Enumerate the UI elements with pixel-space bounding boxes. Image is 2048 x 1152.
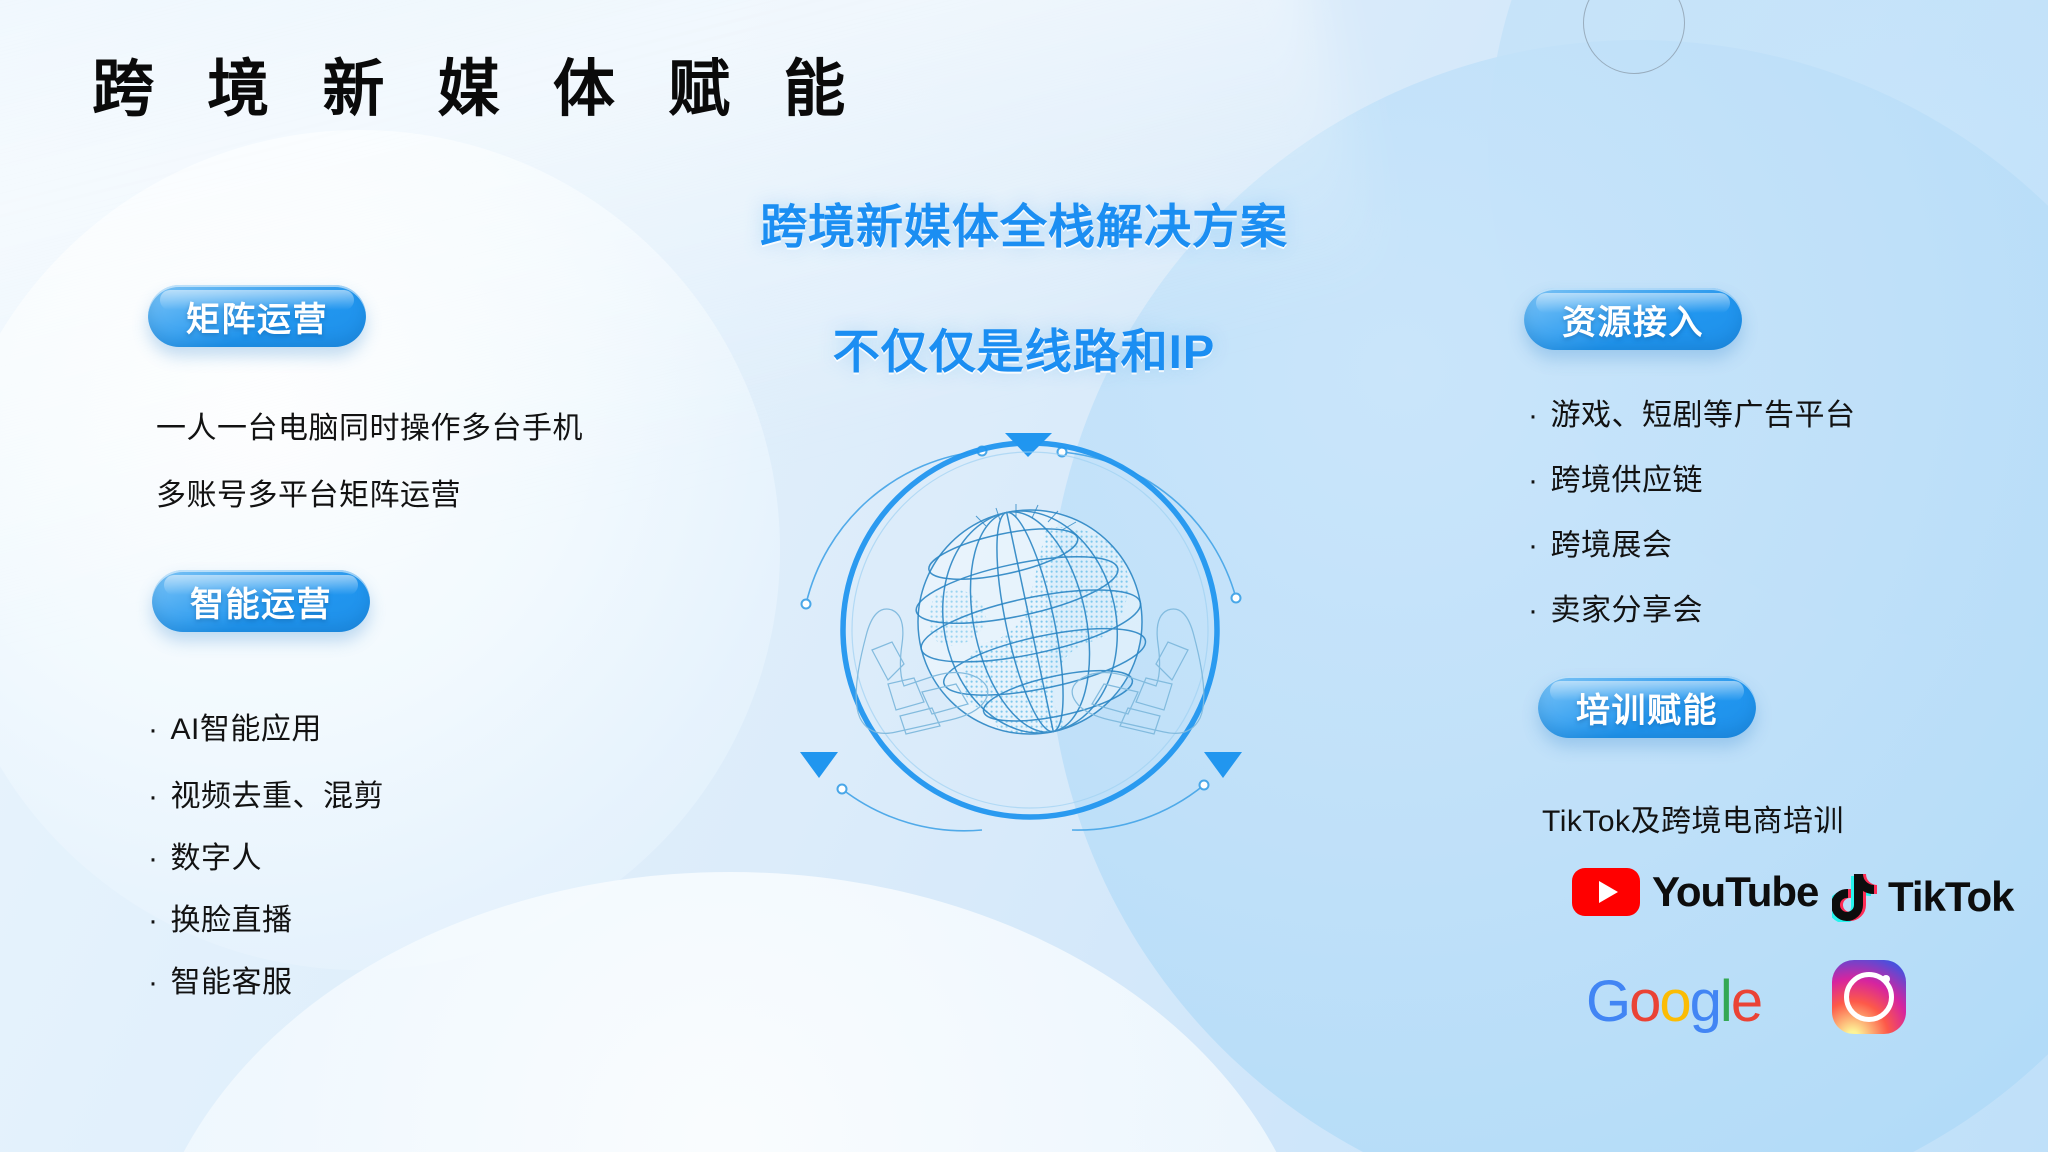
- resource-item-1: ·跨境供应链: [1528, 455, 1703, 499]
- google-letter-0: G: [1586, 968, 1629, 1035]
- smart-item-4: ·智能客服: [148, 957, 293, 1001]
- resource-item-1-label: 跨境供应链: [1551, 464, 1704, 497]
- background-circle-left: [0, 130, 780, 970]
- google-letter-4: l: [1720, 968, 1731, 1035]
- smart-item-2: ·数字人: [148, 833, 262, 877]
- resource-item-2: ·跨境展会: [1528, 520, 1673, 564]
- badge-matrix-operations[interactable]: 矩阵运营: [148, 285, 366, 347]
- smart-item-2-label: 数字人: [171, 842, 263, 875]
- center-headline-primary: 跨境新媒体全栈解决方案: [760, 188, 1288, 257]
- resource-item-3: ·卖家分享会: [1528, 585, 1703, 629]
- smart-item-4-label: 智能客服: [171, 966, 293, 999]
- bullet-dot: ·: [1528, 399, 1539, 432]
- bullet-dot: ·: [148, 842, 159, 875]
- bullet-dot: ·: [148, 904, 159, 937]
- google-wordmark: Google: [1586, 968, 1761, 1035]
- badge-resource-access[interactable]: 资源接入: [1524, 288, 1742, 350]
- smart-item-3-label: 换脸直播: [171, 904, 293, 937]
- badge-training-empowerment[interactable]: 培训赋能: [1538, 676, 1756, 738]
- bullet-dot: ·: [1528, 464, 1539, 497]
- smart-item-1-label: 视频去重、混剪: [171, 780, 385, 813]
- decorative-circle-outline-icon: [1583, 0, 1685, 74]
- bullet-dot: ·: [148, 780, 159, 813]
- youtube-play-icon: [1572, 868, 1640, 916]
- background-circle-bottom: [140, 872, 1320, 1152]
- matrix-item-0: 一人一台电脑同时操作多台手机: [156, 403, 583, 447]
- google-letter-3: g: [1690, 968, 1720, 1035]
- slide-canvas: 跨 境 新 媒 体 赋 能 跨境新媒体全栈解决方案 不仅仅是线路和IP: [0, 0, 2048, 1152]
- center-headline-secondary: 不仅仅是线路和IP: [833, 313, 1215, 382]
- smart-item-0: ·AI智能应用: [148, 704, 322, 748]
- smart-item-3: ·换脸直播: [148, 895, 293, 939]
- logo-google[interactable]: Google: [1586, 968, 1761, 1035]
- resource-item-2-label: 跨境展会: [1551, 529, 1673, 562]
- smart-item-1: ·视频去重、混剪: [148, 771, 384, 815]
- google-letter-2: o: [1659, 968, 1689, 1035]
- globe-icon: [800, 400, 1260, 860]
- logo-tiktok[interactable]: TikTok: [1832, 872, 2013, 922]
- bullet-dot: ·: [148, 713, 159, 746]
- globe-in-hands-graphic: [800, 400, 1260, 860]
- bullet-dot: ·: [148, 966, 159, 999]
- bullet-dot: ·: [1528, 529, 1539, 562]
- bullet-dot: ·: [1528, 594, 1539, 627]
- smart-item-0-label: AI智能应用: [171, 713, 322, 746]
- youtube-wordmark: YouTube: [1652, 868, 1818, 916]
- tiktok-note-icon: [1832, 872, 1878, 922]
- badge-smart-operations[interactable]: 智能运营: [152, 570, 370, 632]
- training-item-0: TikTok及跨境电商培训: [1542, 796, 1844, 840]
- tiktok-wordmark: TikTok: [1888, 873, 2013, 921]
- resource-item-3-label: 卖家分享会: [1551, 594, 1704, 627]
- matrix-item-1: 多账号多平台矩阵运营: [156, 470, 461, 514]
- resource-item-0-label: 游戏、短剧等广告平台: [1551, 399, 1856, 432]
- page-title: 跨 境 新 媒 体 赋 能: [92, 38, 863, 128]
- resource-item-0: ·游戏、短剧等广告平台: [1528, 390, 1856, 434]
- logo-youtube[interactable]: YouTube: [1572, 868, 1818, 916]
- instagram-camera-icon: [1832, 960, 1906, 1034]
- google-letter-5: e: [1731, 968, 1761, 1035]
- logo-instagram[interactable]: [1832, 960, 1906, 1034]
- google-letter-1: o: [1629, 968, 1659, 1035]
